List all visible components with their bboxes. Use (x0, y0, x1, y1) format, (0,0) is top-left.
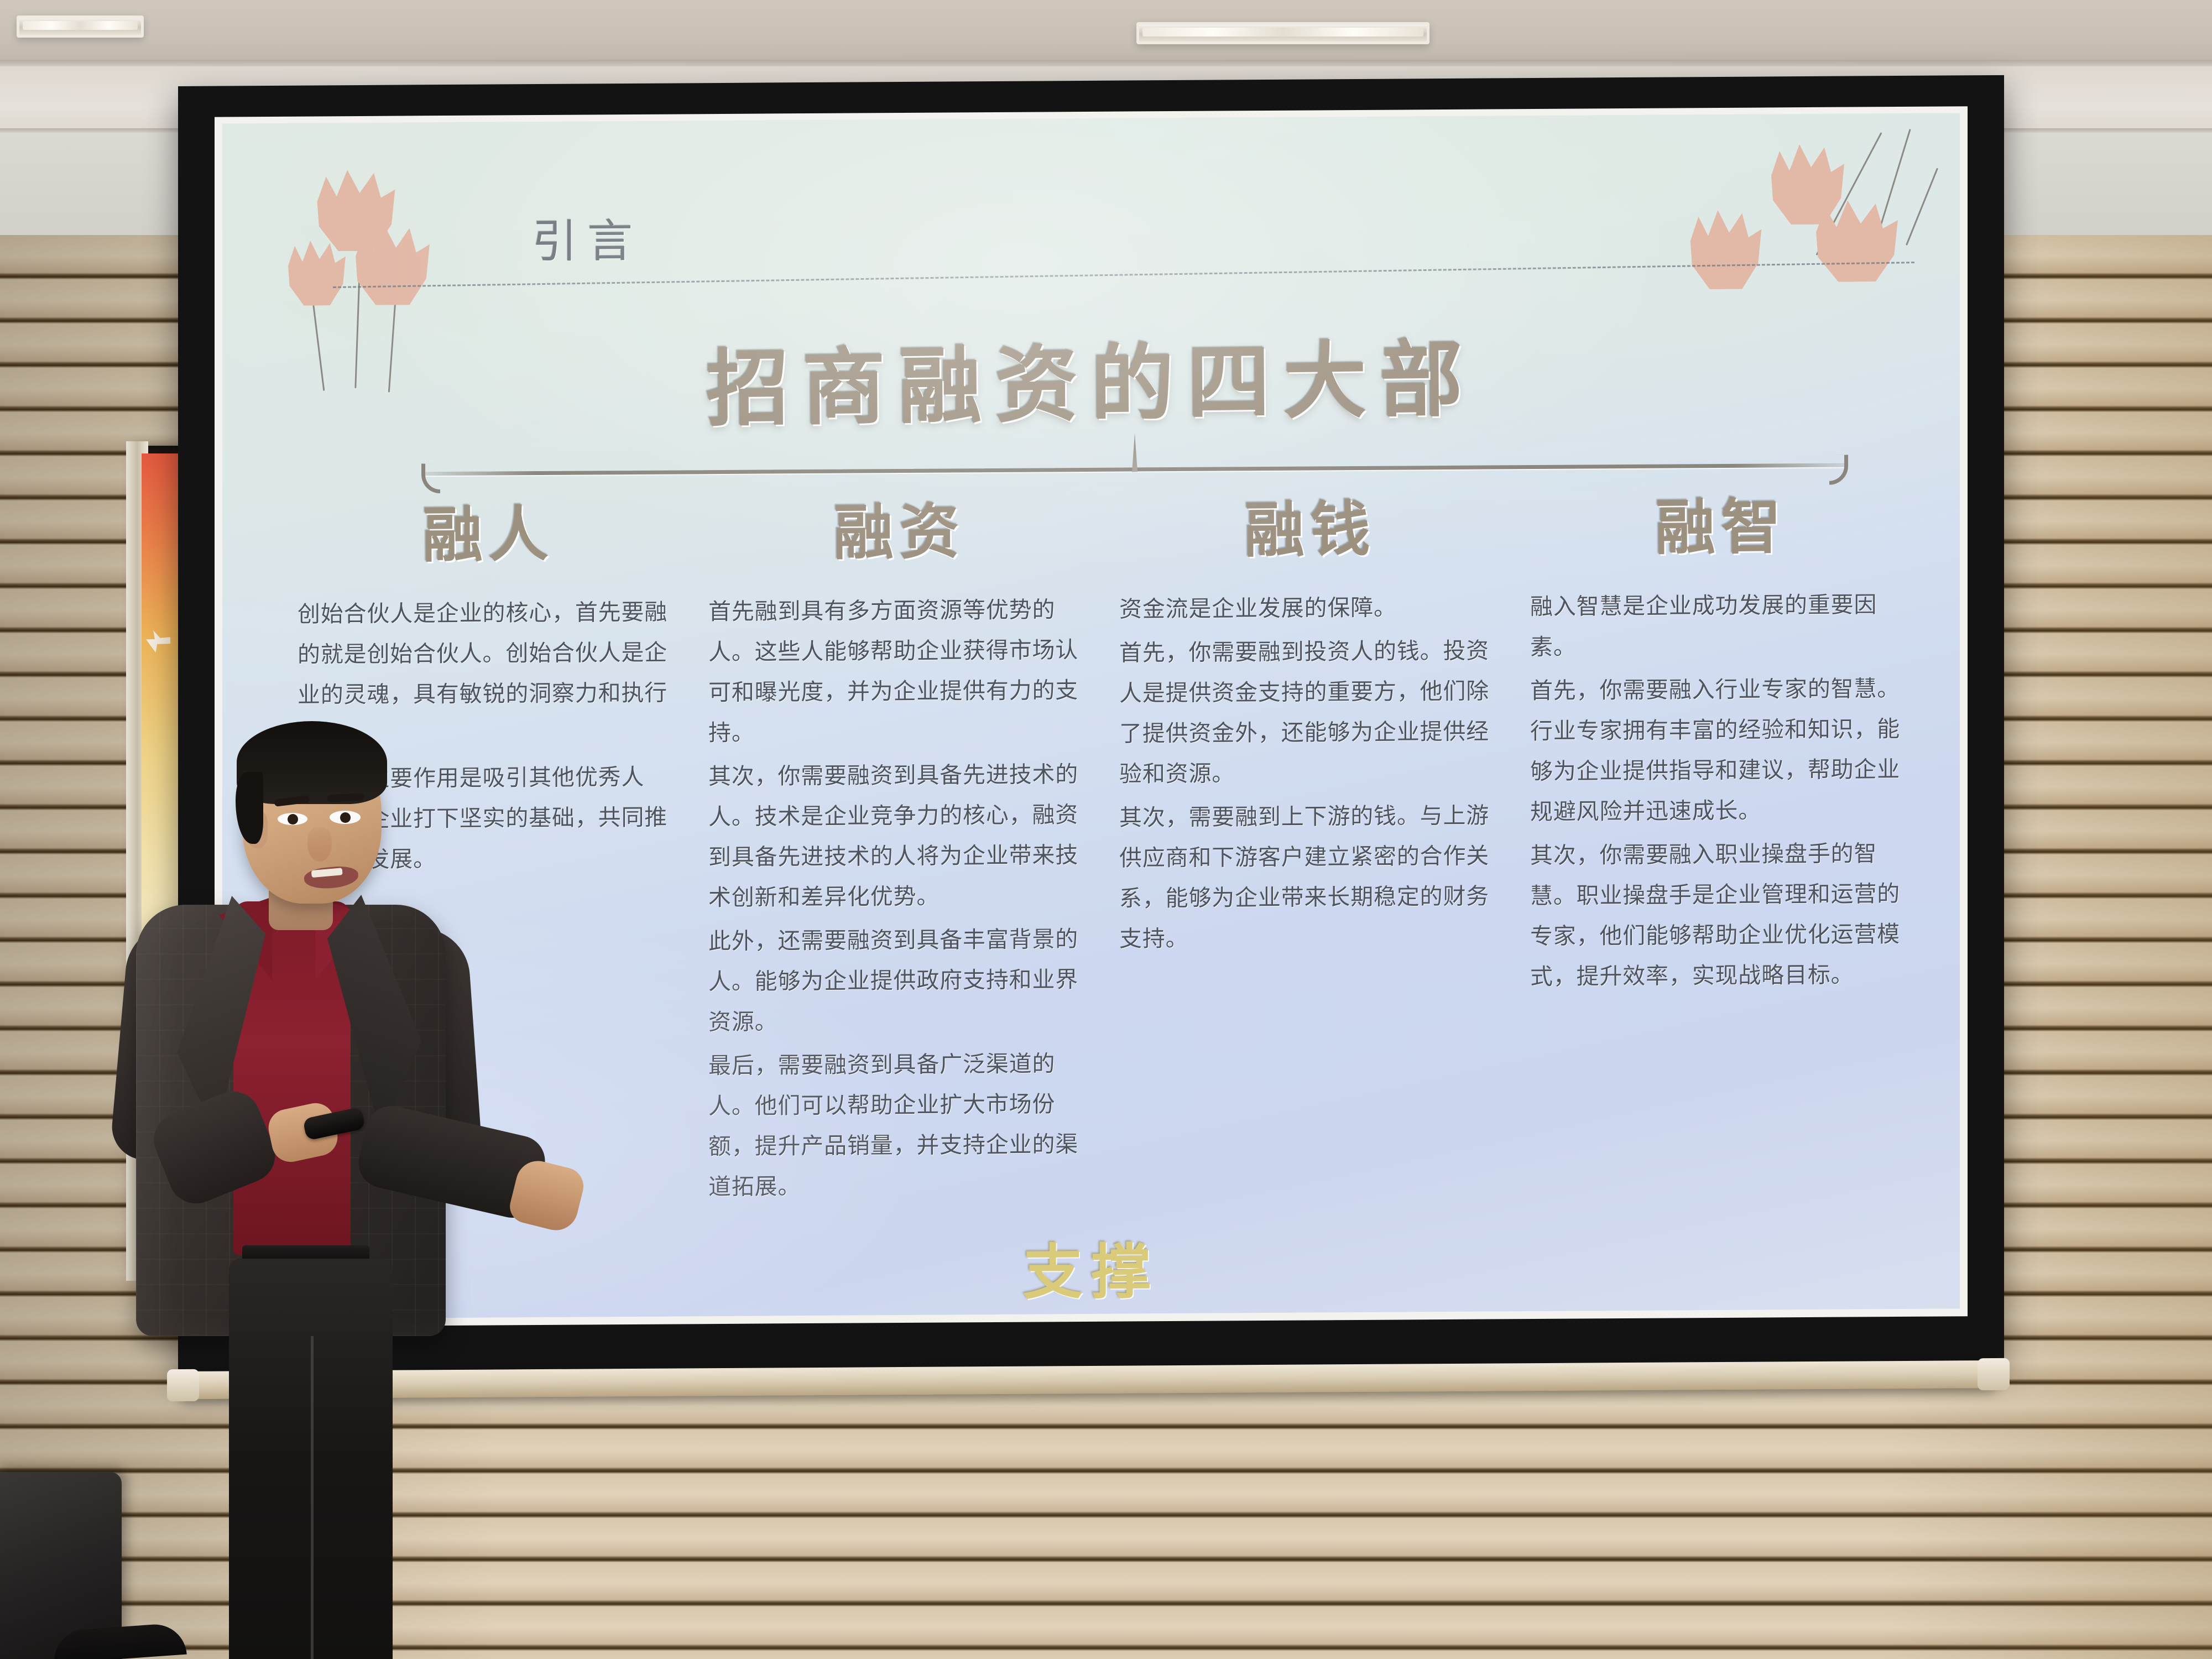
column-paragraph: 其次，需要融到上下游的钱。与上游供应商和下游客户建立紧密的合作关系，能够为企业带… (1119, 795, 1501, 959)
column-body: 资金流是企业发展的保障。 首先，你需要融到投资人的钱。投资人是提供资金支持的重要… (1119, 587, 1501, 959)
column-paragraph: 融入智慧是企业成功发展的重要因素。 (1530, 585, 1912, 667)
presenter (111, 719, 531, 1659)
lotus-flower-icon (351, 223, 435, 305)
poster-glyph-icon (146, 630, 170, 653)
slide-kicker: 引言 (532, 204, 643, 270)
brace-peak (1132, 433, 1138, 472)
presenter-nose (307, 827, 332, 862)
trouser-seam (311, 1336, 314, 1659)
column-paragraph: 首先，你需要融入行业专家的智慧。行业专家拥有丰富的经验和知识，能够为企业提供指导… (1530, 669, 1912, 832)
presentation-room-photo: 引言 招商融资的四大部 融人 创始合伙人是企业的核心，首先要融的就是创始合伙人。… (0, 0, 2212, 1659)
lotus-flower-icon (1766, 143, 1849, 225)
lotus-flower-icon (1686, 208, 1766, 289)
flower-decoration-left (278, 155, 471, 339)
lotus-flower-icon (1811, 199, 1903, 282)
ceiling (0, 0, 2212, 65)
light-diffuser (1142, 28, 1423, 36)
slide-title: 招商融资的四大部 (222, 306, 1960, 448)
content-column-3: 融钱 资金流是企业发展的保障。 首先，你需要融到投资人的钱。投资人是提供资金支持… (1105, 481, 1516, 1208)
column-heading: 融钱 (1119, 480, 1502, 571)
flower-stem (1906, 168, 1938, 246)
column-paragraph: 资金流是企业发展的保障。 (1119, 587, 1501, 629)
presenter-trousers (229, 1259, 393, 1659)
pupil (340, 812, 351, 823)
light-diffuser (23, 21, 138, 30)
column-paragraph: 首先融到具有多方面资源等优势的人。这些人能够帮助企业获得市场认可和曝光度，并为企… (708, 589, 1091, 753)
presenter-hair-side (236, 772, 263, 844)
teeth (311, 868, 343, 878)
pupil (288, 814, 298, 825)
column-body: 融入智慧是企业成功发展的重要因素。 首先，你需要融入行业专家的智慧。行业专家拥有… (1530, 585, 1912, 997)
column-paragraph: 首先，你需要融到投资人的钱。投资人是提供资金支持的重要方，他们除了提供资金外，还… (1119, 630, 1501, 794)
column-heading: 融人 (298, 485, 680, 576)
presenter-eye-right (330, 811, 361, 824)
content-column-4: 融智 融入智慧是企业成功发展的重要因素。 首先，你需要融入行业专家的智慧。行业专… (1516, 478, 1927, 1206)
presenter-shadow-on-screen (521, 773, 808, 1117)
recessed-linear-light-icon (17, 15, 144, 38)
presenter-eye-left (278, 813, 307, 825)
roller-cap-right (1978, 1358, 2010, 1390)
column-paragraph: 其次，你需要融入职业操盘手的智慧。职业操盘手是企业管理和运营的专家，他们能够帮助… (1530, 833, 1912, 997)
column-heading: 融资 (708, 482, 1091, 573)
column-heading: 融智 (1530, 477, 1913, 568)
recessed-linear-light-icon (1136, 22, 1430, 44)
flower-decoration-right (1672, 132, 1932, 316)
